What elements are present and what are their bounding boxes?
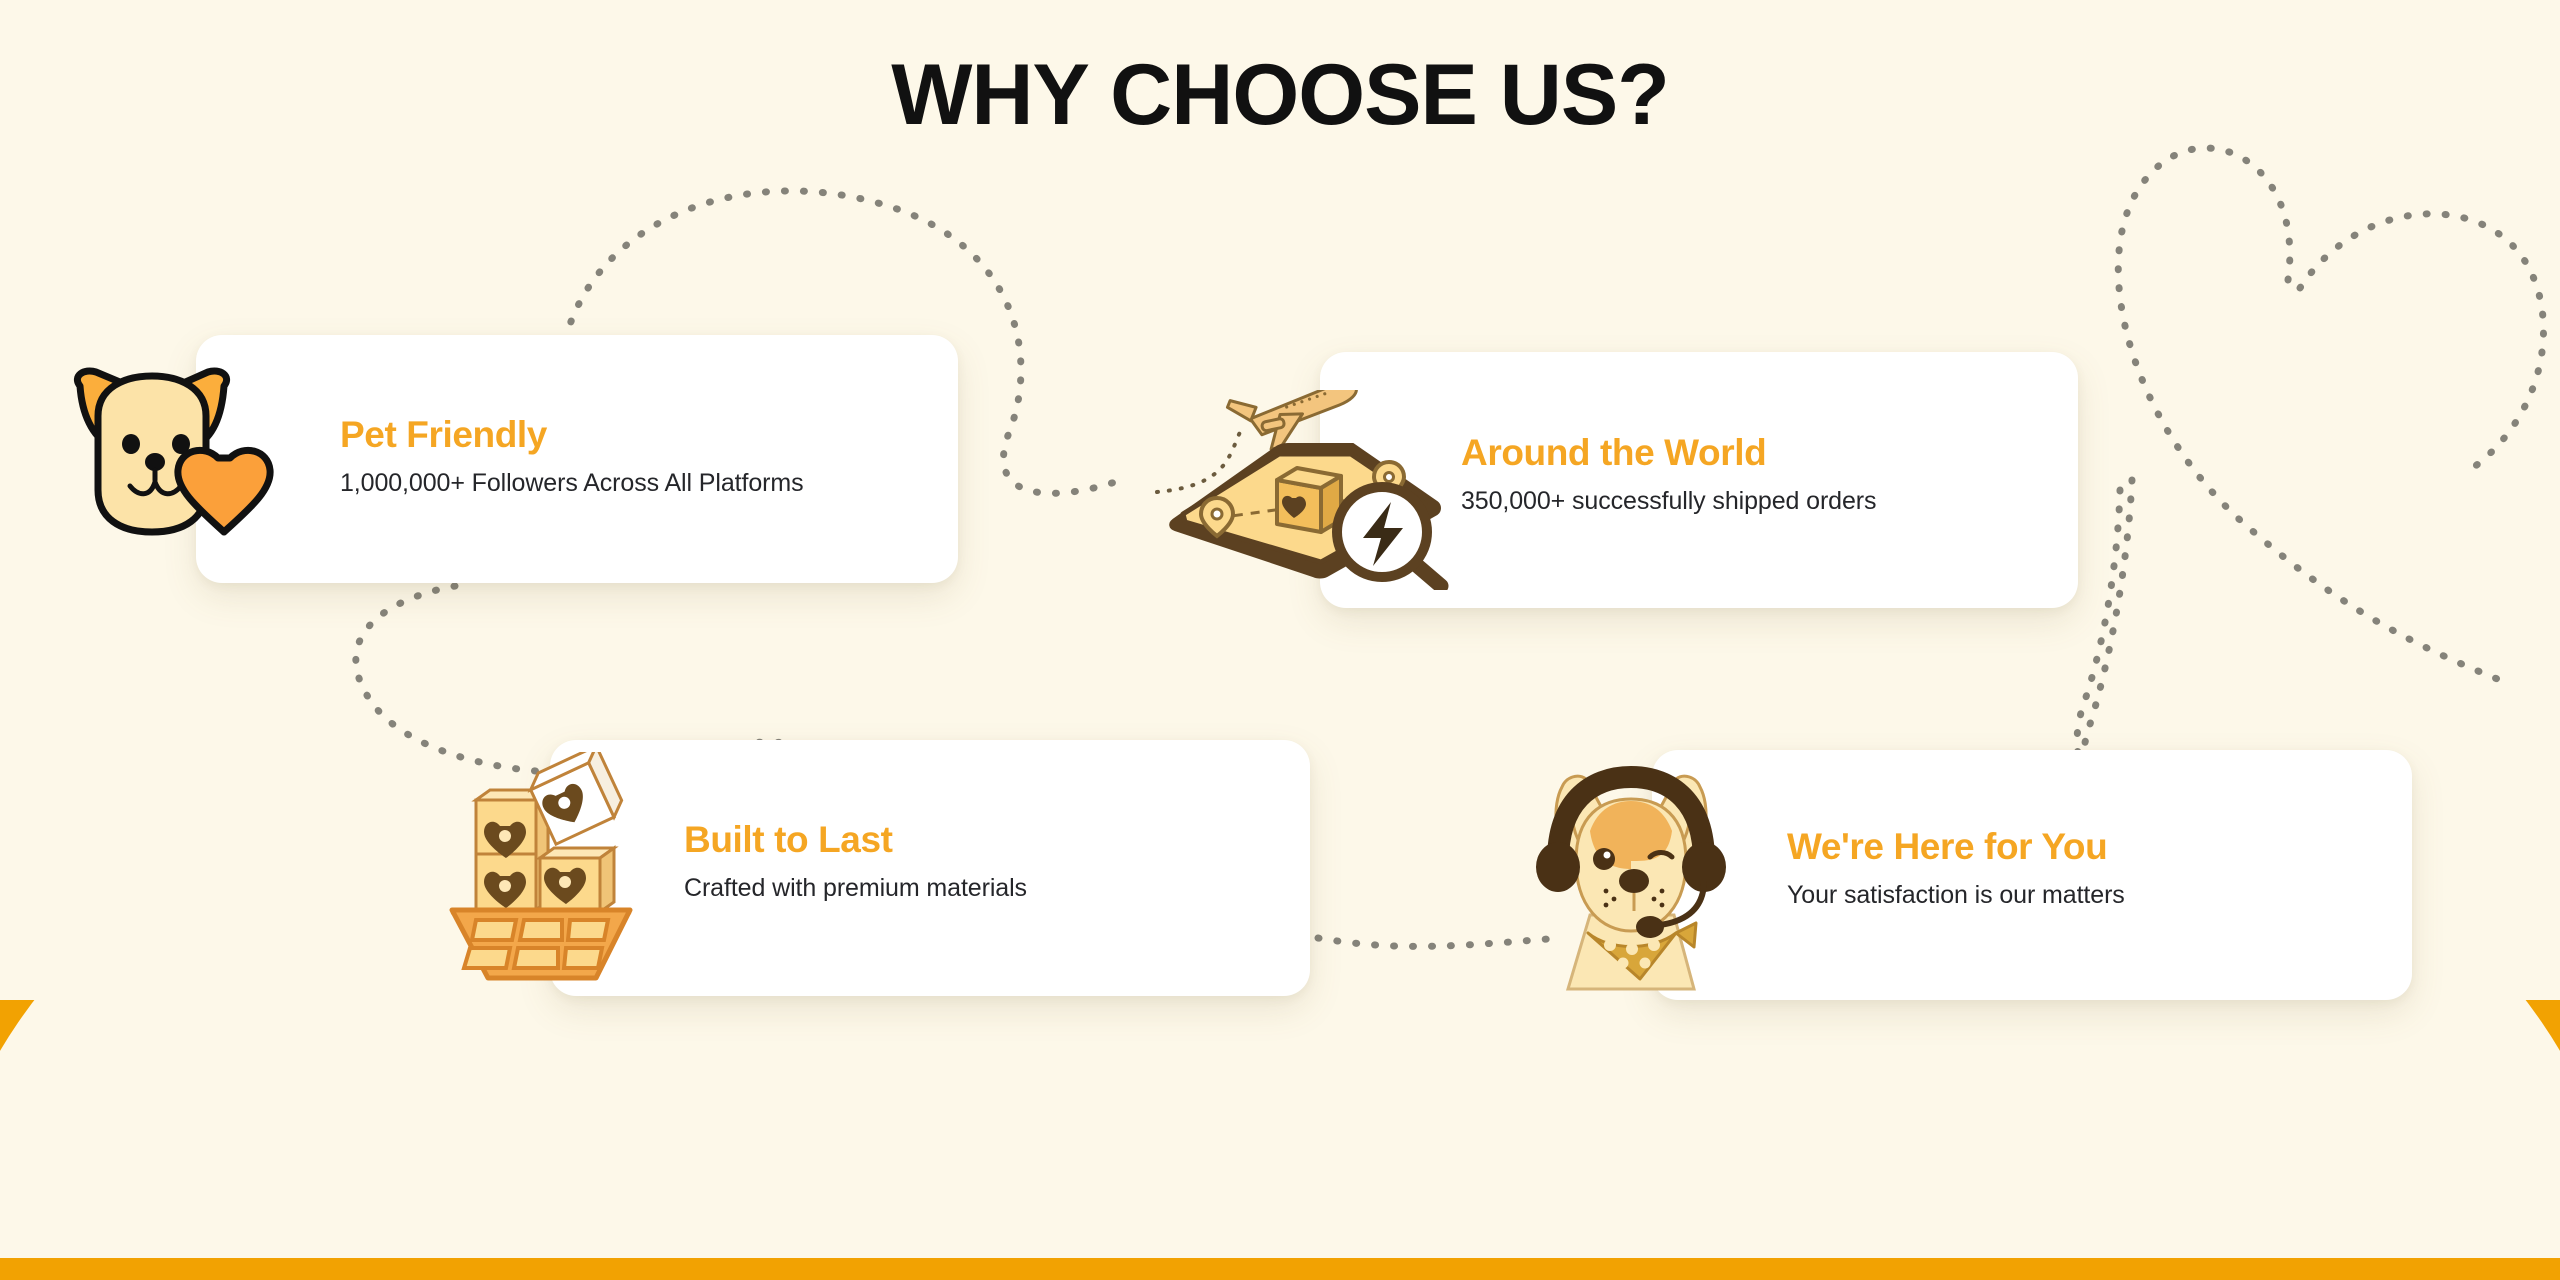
poster-stage: WHY CHOOSE US? Pet Friendly 1,000,000+ F… xyxy=(0,0,2560,1280)
path-heart-decoration-right xyxy=(2300,214,2544,470)
feature-title: Pet Friendly xyxy=(340,414,803,457)
dog-face-with-heart-icon xyxy=(38,350,318,555)
feature-text-built-to-last: Built to Last Crafted with premium mater… xyxy=(684,819,1027,903)
feature-subtitle: 350,000+ successfully shipped orders xyxy=(1461,487,1876,516)
feature-subtitle: Crafted with premium materials xyxy=(684,874,1027,903)
support-dog-headset-icon xyxy=(1528,765,1733,1005)
feature-title: Built to Last xyxy=(684,819,1027,862)
stacked-boxes-pallet-icon xyxy=(432,752,682,987)
feature-subtitle: Your satisfaction is our matters xyxy=(1787,881,2125,910)
feature-text-around-the-world: Around the World 350,000+ successfully s… xyxy=(1461,432,1876,516)
page-title: WHY CHOOSE US? xyxy=(0,46,2560,145)
feature-subtitle: 1,000,000+ Followers Across All Platform… xyxy=(340,469,803,498)
feature-title: Around the World xyxy=(1461,432,1876,475)
airplane-map-package-icon xyxy=(1155,390,1455,590)
path-heart-decoration xyxy=(2118,148,2500,680)
feature-text-pet-friendly: Pet Friendly 1,000,000+ Followers Across… xyxy=(340,414,803,498)
feature-text-were-here-for-you: We're Here for You Your satisfaction is … xyxy=(1787,826,2125,910)
feature-title: We're Here for You xyxy=(1787,826,2125,869)
